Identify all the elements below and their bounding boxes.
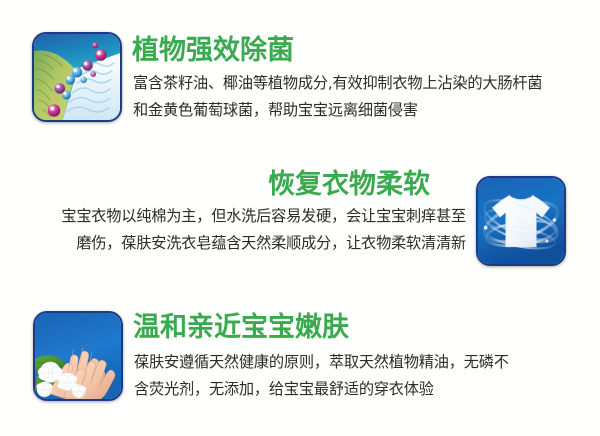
white-tshirt-icon: [476, 176, 566, 266]
feature-body-mild: 葆肤安遵循天然健康的原则，萃取天然植物精油，无磷不 含荧光剂，无添加，给宝宝最舒…: [134, 349, 509, 403]
feature-body-line: 含荧光剂，无添加，给宝宝最舒适的穿衣体验: [134, 376, 509, 403]
feature-body-softness: 宝宝衣物以纯棉为主，但水洗后容易发硬，会让宝宝刺痒甚至 磨伤，葆肤安洗衣皂蕴含天…: [10, 203, 466, 257]
feature-body-line: 宝宝衣物以纯棉为主，但水洗后容易发硬，会让宝宝刺痒甚至: [10, 203, 466, 230]
feature-body-line: 磨伤，葆肤安洗衣皂蕴含天然柔顺成分，让衣物柔软清清新: [10, 230, 466, 257]
feature-body-line: 富含茶籽油、椰油等植物成分,有效抑制衣物上沾染的大肠杆菌: [133, 70, 542, 97]
feature-body-line: 葆肤安遵循天然健康的原则，萃取天然植物精油，无磷不: [134, 349, 509, 376]
feature-body-line: 和金黄色葡萄球菌，帮助宝宝远离细菌侵害: [133, 97, 542, 124]
feature-title-mild: 温和亲近宝宝嫩肤: [133, 313, 349, 343]
feature-body-sterilize: 富含茶籽油、椰油等植物成分,有效抑制衣物上沾染的大肠杆菌 和金黄色葡萄球菌，帮助…: [133, 70, 542, 124]
feature-title-sterilize: 植物强效除菌: [132, 36, 294, 66]
fabric-bubbles-icon: [32, 32, 122, 122]
hands-jasmine-icon: [33, 311, 123, 401]
product-feature-panel: 植物强效除菌 富含茶籽油、椰油等植物成分,有效抑制衣物上沾染的大肠杆菌 和金黄色…: [0, 0, 600, 436]
feature-title-softness: 恢复衣物柔软: [268, 170, 430, 200]
